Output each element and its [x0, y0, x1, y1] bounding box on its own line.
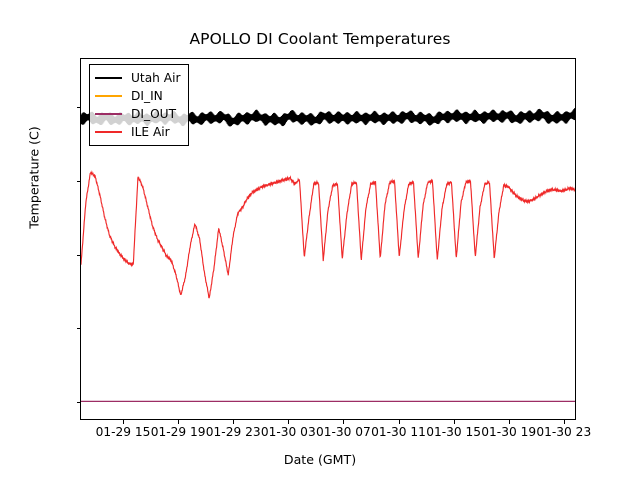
legend-label-utah-air: Utah Air: [131, 72, 181, 84]
x-tick-label: 01-30 03: [261, 425, 316, 439]
x-tick-mark: [123, 420, 124, 424]
legend-swatch-ile-air: [95, 131, 122, 133]
x-tick-label: 01-30 15: [426, 425, 481, 439]
x-tick-mark: [343, 420, 344, 424]
x-tick-label: 01-30 19: [481, 425, 536, 439]
x-tick-label: 01-29 15: [96, 425, 151, 439]
line-ile-air: [81, 172, 575, 297]
x-tick-mark: [399, 420, 400, 424]
x-tick-mark: [509, 420, 510, 424]
legend-swatch-di-out: [95, 113, 122, 115]
legend-item-utah-air[interactable]: Utah Air: [95, 69, 181, 87]
x-tick-mark: [288, 420, 289, 424]
legend-item-di-in[interactable]: DI_IN: [95, 87, 181, 105]
x-tick-mark: [564, 420, 565, 424]
y-axis-label: Temperature (C): [27, 58, 42, 298]
legend-label-ile-air: ILE Air: [131, 126, 170, 138]
chart-title: APOLLO DI Coolant Temperatures: [0, 30, 640, 48]
legend-label-di-in: DI_IN: [131, 90, 163, 102]
x-tick-label: 01-30 07: [316, 425, 371, 439]
x-tick-label: 01-29 23: [206, 425, 261, 439]
legend-swatch-utah-air: [95, 77, 122, 79]
matplotlib-figure: APOLLO DI Coolant Temperatures Temperatu…: [0, 0, 640, 480]
legend-item-ile-air[interactable]: ILE Air: [95, 123, 181, 141]
x-tick-label: 01-29 19: [151, 425, 206, 439]
x-tick-mark: [454, 420, 455, 424]
legend-label-di-out: DI_OUT: [131, 108, 176, 120]
x-tick-label: 01-30 23: [536, 425, 591, 439]
x-tick-label: 01-30 11: [371, 425, 426, 439]
legend-swatch-di-in: [95, 95, 122, 97]
x-tick-mark: [233, 420, 234, 424]
chart-legend[interactable]: Utah Air DI_IN DI_OUT ILE Air: [89, 64, 189, 146]
x-tick-mark: [178, 420, 179, 424]
x-axis-label: Date (GMT): [0, 452, 640, 467]
legend-item-di-out[interactable]: DI_OUT: [95, 105, 181, 123]
